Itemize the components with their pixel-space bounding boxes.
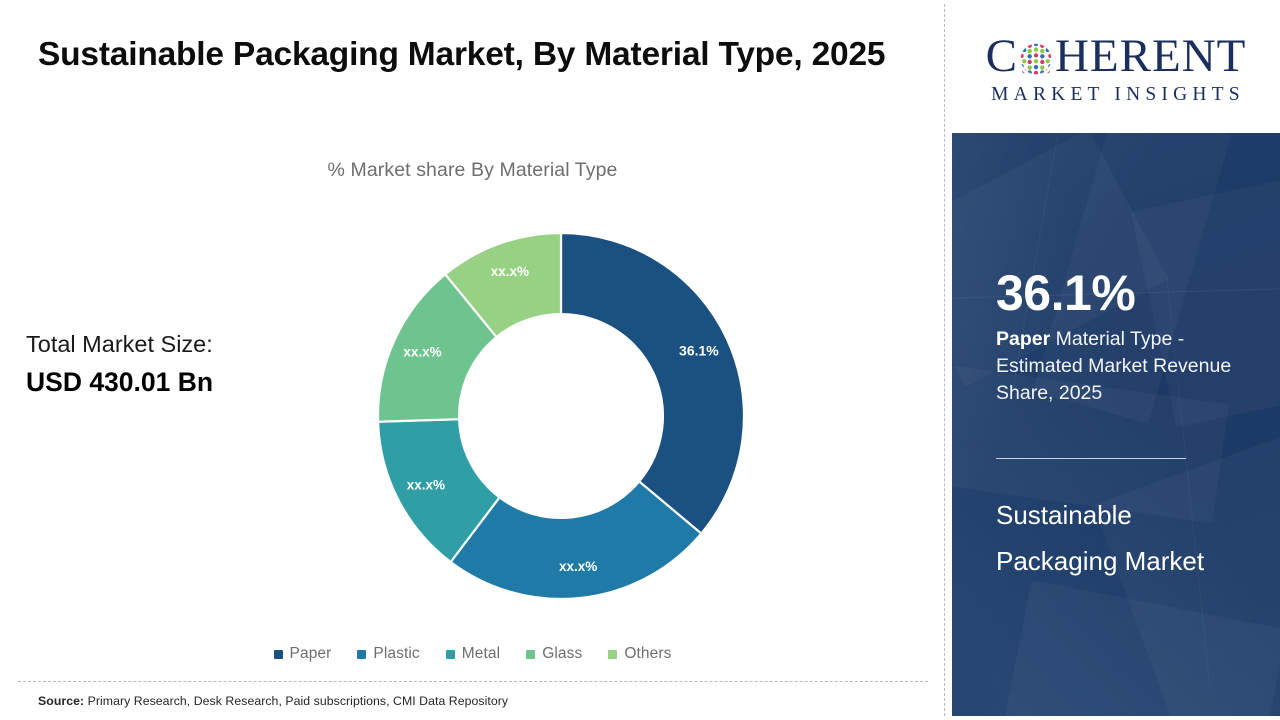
highlight-panel: 36.1% Paper Material Type - Estimated Ma…	[952, 133, 1280, 716]
logo-wordmark-text: HERENT	[1055, 33, 1246, 80]
legend-swatch-icon	[608, 650, 617, 659]
legend-item-plastic[interactable]: Plastic	[357, 645, 419, 663]
legend-item-glass[interactable]: Glass	[526, 645, 582, 663]
panel-divider	[944, 4, 945, 716]
donut-slice-label-paper: 36.1%	[679, 342, 719, 358]
donut-chart-svg: 36.1%xx.x%xx.x%xx.x%xx.x%	[378, 233, 744, 599]
footer-divider	[18, 681, 928, 682]
chart-subtitle: % Market share By Material Type	[0, 159, 945, 182]
legend-label: Glass	[542, 645, 582, 663]
source-label: Source:	[38, 694, 84, 708]
legend-label: Paper	[290, 645, 332, 663]
left-content-panel: Sustainable Packaging Market, By Materia…	[0, 0, 945, 720]
stat-percentage: 36.1%	[996, 268, 1135, 318]
legend-item-metal[interactable]: Metal	[446, 645, 500, 663]
source-text: Primary Research, Desk Research, Paid su…	[84, 694, 508, 708]
logo-subtitle: MARKET INSIGHTS	[987, 84, 1245, 106]
total-market-size-label: Total Market Size:	[26, 325, 346, 363]
total-market-size-value: USD 430.01 Bn	[26, 363, 346, 403]
total-market-size-block: Total Market Size: USD 430.01 Bn	[26, 325, 346, 403]
page-title: Sustainable Packaging Market, By Materia…	[38, 30, 918, 81]
right-sidebar: C	[952, 0, 1280, 720]
legend-swatch-icon	[526, 650, 535, 659]
chart-legend: PaperPlasticMetalGlassOthers	[0, 645, 945, 663]
donut-slice-label-others: xx.x%	[491, 264, 529, 279]
legend-swatch-icon	[357, 650, 366, 659]
market-name: Sustainable Packaging Market	[996, 493, 1226, 584]
stat-description: Paper Material Type - Estimated Market R…	[996, 326, 1246, 407]
infographic-root: Sustainable Packaging Market, By Materia…	[0, 0, 1280, 720]
donut-chart: 36.1%xx.x%xx.x%xx.x%xx.x%	[378, 233, 744, 599]
donut-slice-paper[interactable]	[561, 233, 744, 534]
source-note: Source: Primary Research, Desk Research,…	[38, 694, 508, 708]
legend-item-others[interactable]: Others	[608, 645, 671, 663]
legend-label: Others	[624, 645, 671, 663]
stat-highlight-term: Paper	[996, 328, 1050, 350]
legend-item-paper[interactable]: Paper	[274, 645, 332, 663]
legend-label: Metal	[462, 645, 500, 663]
stat-divider	[996, 458, 1186, 459]
legend-label: Plastic	[373, 645, 419, 663]
legend-swatch-icon	[274, 650, 283, 659]
globe-icon	[1018, 41, 1054, 77]
company-logo: C	[952, 4, 1280, 133]
logo-wordmark: C	[986, 32, 1247, 82]
donut-slice-label-plastic: xx.x%	[559, 559, 597, 574]
logo-letter-c: C	[986, 33, 1018, 80]
legend-swatch-icon	[446, 650, 455, 659]
donut-slice-label-metal: xx.x%	[407, 478, 445, 493]
donut-slice-label-glass: xx.x%	[403, 344, 441, 359]
